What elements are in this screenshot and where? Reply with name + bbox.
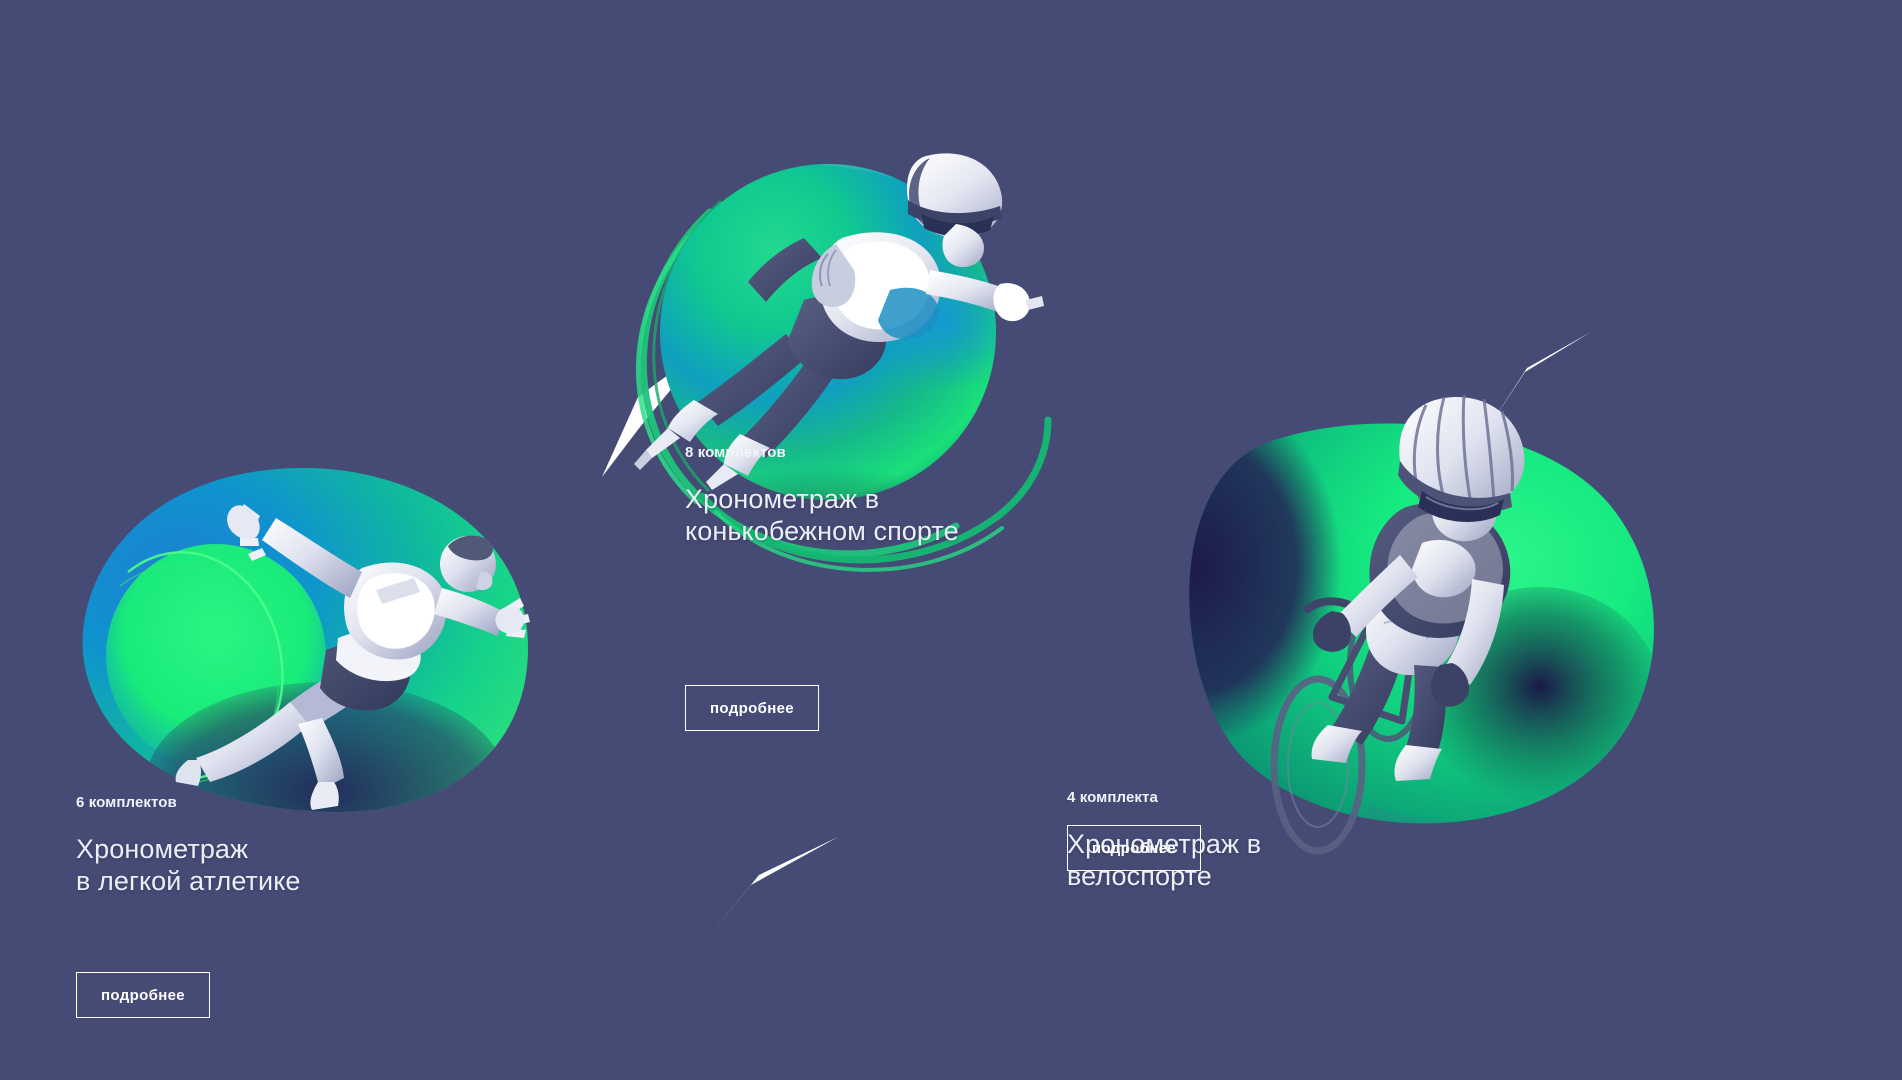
- details-button-skating[interactable]: подробнее: [685, 685, 819, 731]
- sets-label: 8 комплектов: [685, 445, 959, 460]
- details-button-athletics[interactable]: подробнее: [76, 972, 210, 1018]
- speed-skater-icon: [590, 120, 1060, 630]
- card-skating[interactable]: 8 комплектов Хронометраж в конькобежном …: [600, 120, 1260, 760]
- card-text-athletics: 6 комплектов Хронометраж в легкой атлети…: [76, 795, 301, 897]
- sets-label: 6 комплектов: [76, 795, 301, 810]
- card-cycling[interactable]: 4 комплекта Хронометраж в велоспорте под…: [1180, 330, 1900, 950]
- card-title: Хронометраж в конькобежном спорте: [685, 484, 959, 547]
- card-text-skating: 8 комплектов Хронометраж в конькобежном …: [685, 445, 959, 547]
- details-button-cycling[interactable]: подробнее: [1067, 825, 1201, 871]
- page-root: 6 комплектов Хронометраж в легкой атлети…: [0, 0, 1902, 1080]
- card-athletics[interactable]: 6 комплектов Хронометраж в легкой атлети…: [0, 400, 640, 960]
- swoosh-arrow-center-icon: [695, 835, 840, 955]
- sets-label: 4 комплекта: [1067, 790, 1261, 805]
- card-title: Хронометраж в легкой атлетике: [76, 834, 301, 897]
